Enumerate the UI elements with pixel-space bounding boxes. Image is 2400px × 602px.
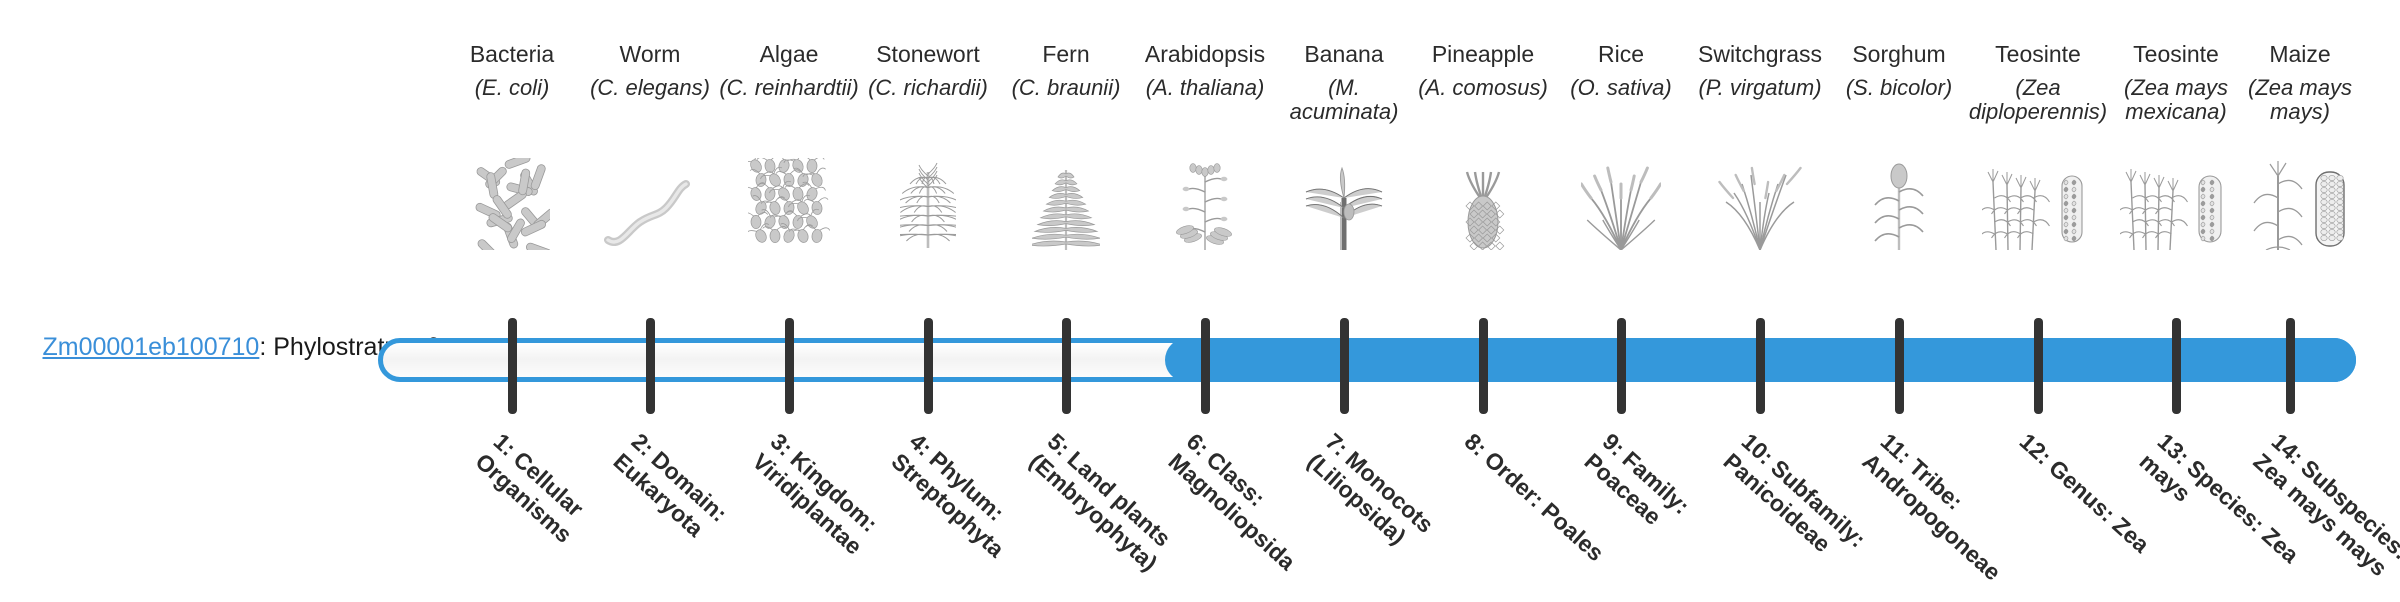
- species-common-name: Bacteria: [442, 42, 582, 68]
- stratum-tick: [1617, 318, 1626, 414]
- species-latin-name: (P. virgatum): [1690, 76, 1830, 100]
- sorghum-plant-icon: [1829, 158, 1969, 250]
- species-common-name: Maize: [2230, 42, 2370, 68]
- species-common-name: Worm: [580, 42, 720, 68]
- stratum-tick: [1201, 318, 1210, 414]
- phylostratum-chart: Zm00001eb100710: Phylostratum 6 Bacteria…: [0, 0, 2400, 580]
- species-common-name: Fern: [996, 42, 1136, 68]
- species-latin-name: (C. braunii): [996, 76, 1136, 100]
- gene-id-link[interactable]: Zm00001eb100710: [42, 333, 259, 361]
- stratum-tick: [1340, 318, 1349, 414]
- stratum-tick: [2286, 318, 2295, 414]
- stratum-tick: [2172, 318, 2181, 414]
- stratum-tick: [785, 318, 794, 414]
- stonewort-plant-icon: [858, 158, 998, 250]
- species-common-name: Rice: [1551, 42, 1691, 68]
- species-latin-name: (C. richardii): [858, 76, 998, 100]
- species-common-name: Arabidopsis: [1135, 42, 1275, 68]
- species-latin-name: (O. sativa): [1551, 76, 1691, 100]
- stratum-tick: [2034, 318, 2043, 414]
- species-common-name: Banana: [1274, 42, 1414, 68]
- stratum-tick: [1895, 318, 1904, 414]
- species-latin-name: (Zea mays mays): [2230, 76, 2370, 124]
- species-latin-name: (M. acuminata): [1274, 76, 1414, 124]
- stratum-tick: [1479, 318, 1488, 414]
- maize-plant-ear-icon: [2230, 158, 2370, 250]
- species-common-name: Teosinte: [2106, 42, 2246, 68]
- stratum-tick: [1062, 318, 1071, 414]
- switchgrass-plant-icon: [1690, 158, 1830, 250]
- pineapple-fruit-icon: [1413, 158, 1553, 250]
- c-elegans-worm-icon: [580, 158, 720, 250]
- gene-label-separator: :: [259, 333, 273, 361]
- stratum-tick: [924, 318, 933, 414]
- species-latin-name: (Zea mays mexicana): [2106, 76, 2246, 124]
- species-common-name: Sorghum: [1829, 42, 1969, 68]
- stratum-tick: [1756, 318, 1765, 414]
- teosinte-plant-ear-icon: [1968, 158, 2108, 250]
- species-latin-name: (S. bicolor): [1829, 76, 1969, 100]
- species-latin-name: (Zea diploperennis): [1968, 76, 2108, 124]
- species-latin-name: (C. elegans): [580, 76, 720, 100]
- arabidopsis-rosette-icon: [1135, 158, 1275, 250]
- species-common-name: Teosinte: [1968, 42, 2108, 68]
- species-common-name: Pineapple: [1413, 42, 1553, 68]
- rice-plant-icon: [1551, 158, 1691, 250]
- fern-frond-icon: [996, 158, 1136, 250]
- teosinte-mexicana-plant-ear-icon: [2106, 158, 2246, 250]
- species-latin-name: (C. reinhardtii): [719, 76, 859, 100]
- species-common-name: Algae: [719, 42, 859, 68]
- ecoli-rods-icon: [442, 158, 582, 250]
- species-common-name: Switchgrass: [1690, 42, 1830, 68]
- stratum-tick: [508, 318, 517, 414]
- stratum-tick: [646, 318, 655, 414]
- species-latin-name: (E. coli): [442, 76, 582, 100]
- species-latin-name: (A. thaliana): [1135, 76, 1275, 100]
- species-common-name: Stonewort: [858, 42, 998, 68]
- chlamydomonas-cells-icon: [719, 158, 859, 250]
- species-latin-name: (A. comosus): [1413, 76, 1553, 100]
- banana-tree-icon: [1274, 158, 1414, 250]
